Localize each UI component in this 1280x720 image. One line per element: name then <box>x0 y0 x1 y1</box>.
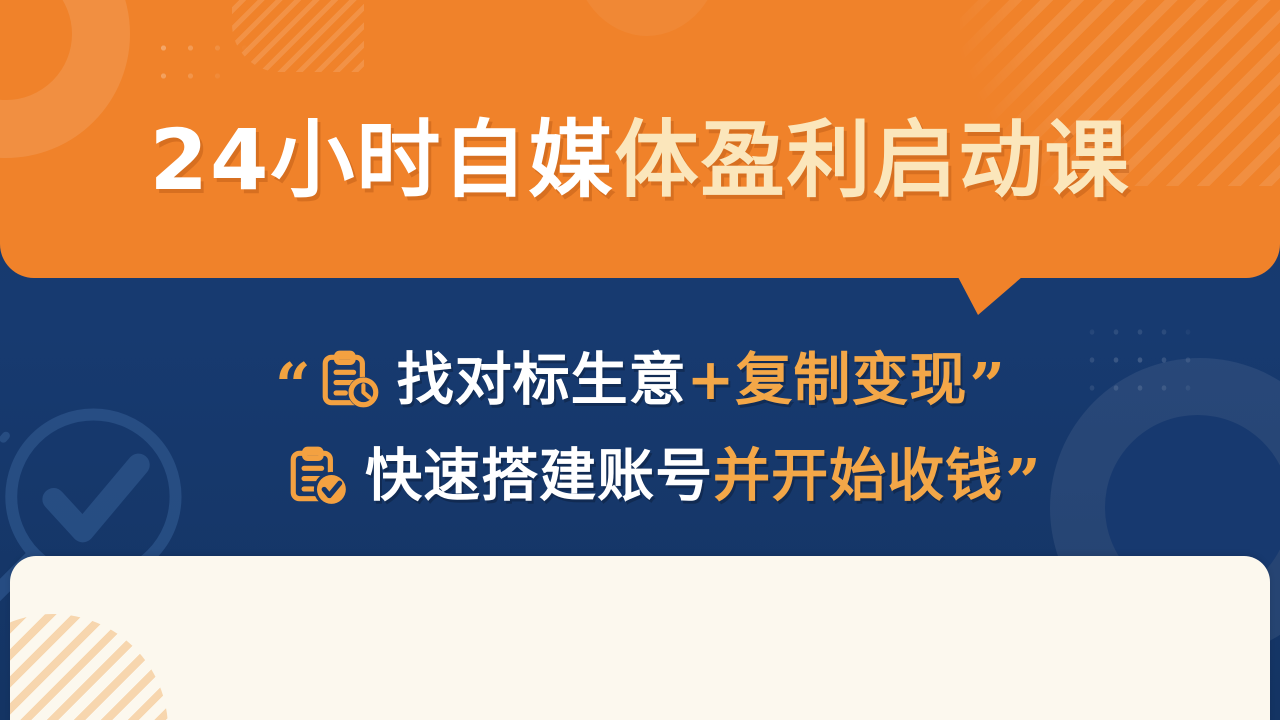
title-part-cream: 体盈利启动课 <box>614 111 1130 209</box>
feature-2-text-orange: 并开始收钱 <box>713 443 1003 509</box>
banner-blob-decoration <box>572 0 722 36</box>
clipboard-check-icon <box>285 443 351 509</box>
clipboard-search-icon <box>317 347 383 413</box>
speech-bubble-tail <box>958 277 1022 315</box>
bottom-content-card <box>10 556 1270 720</box>
banner-dots-decoration <box>150 34 270 100</box>
feature-2-text-white: 快速搭建账号 <box>365 443 713 509</box>
feature-line-2: 快速搭建账号并开始收钱 ” <box>0 428 1280 524</box>
feature-1-text-orange: +复制变现 <box>687 347 968 413</box>
promo-poster: 24小时自媒体盈利启动课 “ 找对标生意+复制变现 ” <box>0 0 1280 720</box>
page-title: 24小时自媒体盈利启动课 <box>0 118 1280 202</box>
feature-lines: “ 找对标生意+复制变现 ” <box>0 332 1280 524</box>
card-stripes-decoration <box>10 614 168 720</box>
title-part-white: 24小时自媒 <box>150 111 615 209</box>
feature-line-1: “ 找对标生意+复制变现 ” <box>0 332 1280 428</box>
feature-1-text-white: 找对标生意 <box>397 347 687 413</box>
